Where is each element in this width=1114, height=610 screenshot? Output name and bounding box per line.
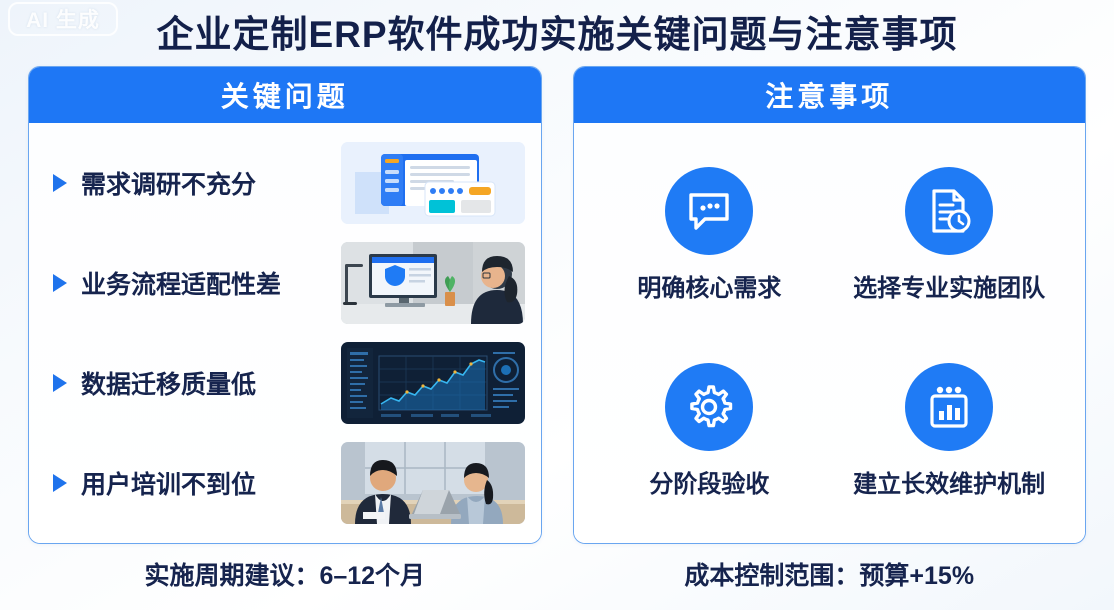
page-title: 企业定制ERP软件成功实施关键问题与注意事项 — [0, 4, 1114, 58]
panels-container: 关键问题 需求调研不充分 — [28, 66, 1086, 544]
issue-label: 数据迁移质量低 — [81, 365, 327, 401]
list-item[interactable]: 用户培训不到位 — [45, 437, 525, 529]
issue-label: 用户培训不到位 — [81, 465, 327, 501]
issue-label: 需求调研不充分 — [81, 165, 327, 201]
key-issues-header-label: 关键问题 — [221, 75, 349, 115]
tip-item[interactable]: 选择专业实施团队 — [853, 167, 1045, 303]
analytics-chart-photo — [341, 342, 525, 424]
cost-control-note: 成本控制范围：预算+15% — [573, 556, 1087, 592]
tip-item[interactable]: 明确核心需求 — [637, 167, 781, 303]
precautions-panel: 注意事项 明确核心需求 — [573, 66, 1087, 544]
key-issues-header: 关键问题 — [29, 67, 541, 123]
tip-label: 分阶段验收 — [649, 464, 769, 499]
person-at-computer-photo — [341, 242, 525, 324]
document-clock-icon — [905, 167, 993, 255]
key-issues-panel: 关键问题 需求调研不充分 — [28, 66, 542, 544]
implementation-period-note: 实施周期建议：6–12个月 — [28, 556, 542, 592]
issue-label: 业务流程适配性差 — [81, 265, 327, 301]
issue-list: 需求调研不充分 — [45, 137, 525, 529]
bar-chart-window-icon — [905, 363, 993, 451]
precautions-header: 注意事项 — [574, 67, 1086, 123]
tip-label: 选择专业实施团队 — [853, 268, 1045, 303]
tip-item[interactable]: 建立长效维护机制 — [853, 363, 1045, 499]
triangle-right-icon — [53, 474, 67, 492]
triangle-right-icon — [53, 174, 67, 192]
tip-item[interactable]: 分阶段验收 — [649, 363, 769, 499]
gear-icon — [665, 363, 753, 451]
precautions-header-label: 注意事项 — [765, 75, 893, 115]
list-item[interactable]: 数据迁移质量低 — [45, 337, 525, 429]
dashboard-ui-illustration — [341, 142, 525, 224]
triangle-right-icon — [53, 374, 67, 392]
tip-label: 建立长效维护机制 — [853, 464, 1045, 499]
chat-bubble-icon — [665, 167, 753, 255]
list-item[interactable]: 业务流程适配性差 — [45, 237, 525, 329]
tips-grid: 明确核心需求 — [590, 137, 1070, 529]
key-issues-body: 需求调研不充分 — [29, 123, 541, 543]
two-people-laptop-photo — [341, 442, 525, 524]
footers-container: 实施周期建议：6–12个月 成本控制范围：预算+15% — [28, 556, 1086, 592]
list-item[interactable]: 需求调研不充分 — [45, 137, 525, 229]
tip-label: 明确核心需求 — [637, 268, 781, 303]
precautions-body: 明确核心需求 — [574, 123, 1086, 543]
triangle-right-icon — [53, 274, 67, 292]
